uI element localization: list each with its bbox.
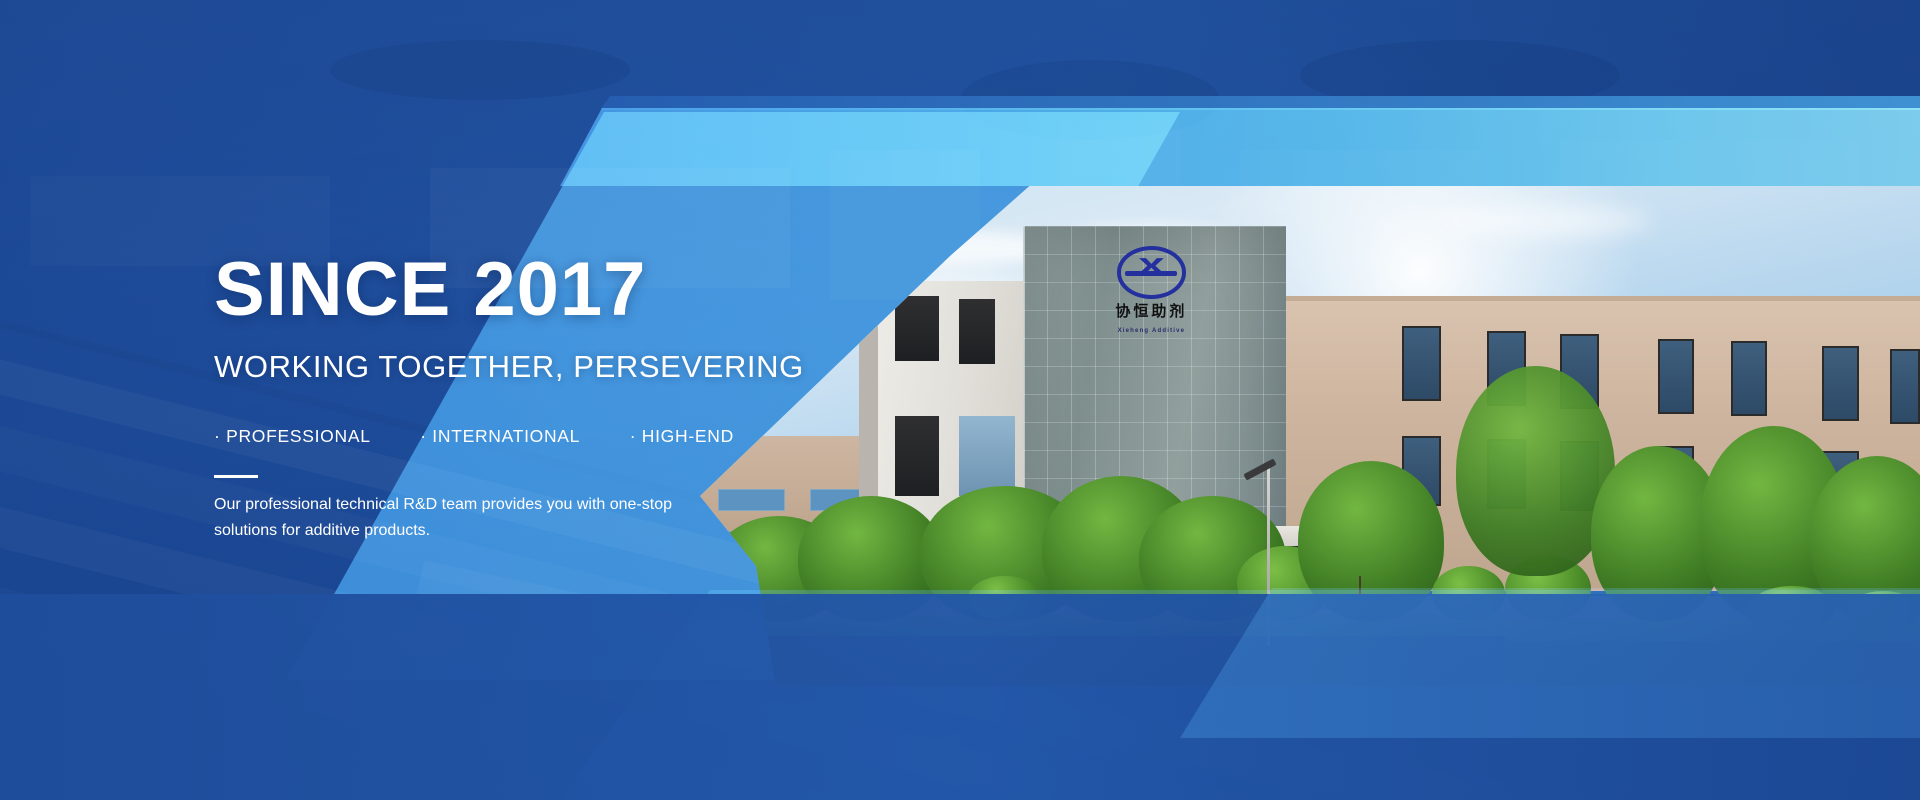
company-signage: 协恒助剂 Xieheng Additive [1072, 246, 1231, 346]
photo-window [1731, 341, 1768, 416]
photo-cloud [1432, 206, 1652, 236]
hero-keyword-list: · PROFESSIONAL · INTERNATIONAL · HIGH-EN… [214, 426, 854, 447]
hero-subheadline: WORKING TOGETHER, PERSEVERING [214, 350, 854, 384]
hero-copy: SINCE 2017 WORKING TOGETHER, PERSEVERING… [214, 252, 854, 544]
photo-window [959, 416, 1015, 496]
photo-window [1402, 326, 1441, 401]
hero-banner: 协恒助剂 Xieheng Additive [0, 0, 1920, 800]
photo-window [895, 296, 939, 361]
photo-window [895, 416, 939, 496]
photo-window [959, 299, 996, 364]
hero-keyword-international: · INTERNATIONAL [420, 426, 580, 446]
emblem-bar-icon [1125, 271, 1177, 276]
hero-paragraph: Our professional technical R&D team prov… [214, 492, 684, 544]
photo-window [1890, 349, 1920, 424]
top-band-shadow [600, 96, 1920, 110]
circular-emblem-icon [1117, 246, 1187, 299]
top-light-band [560, 108, 1920, 186]
signage-english-text: Xieheng Additive [1072, 328, 1231, 334]
signage-chinese-text: 协恒助剂 [1072, 304, 1231, 319]
photo-window [1658, 339, 1695, 414]
hero-keyword-high-end: · HIGH-END [630, 426, 734, 446]
page-title: SINCE 2017 [214, 252, 854, 328]
hero-keyword-professional: · PROFESSIONAL [214, 426, 371, 446]
photo-window [1822, 346, 1859, 421]
bottom-band-accent [1180, 588, 1920, 738]
hero-divider-rule [214, 475, 258, 478]
